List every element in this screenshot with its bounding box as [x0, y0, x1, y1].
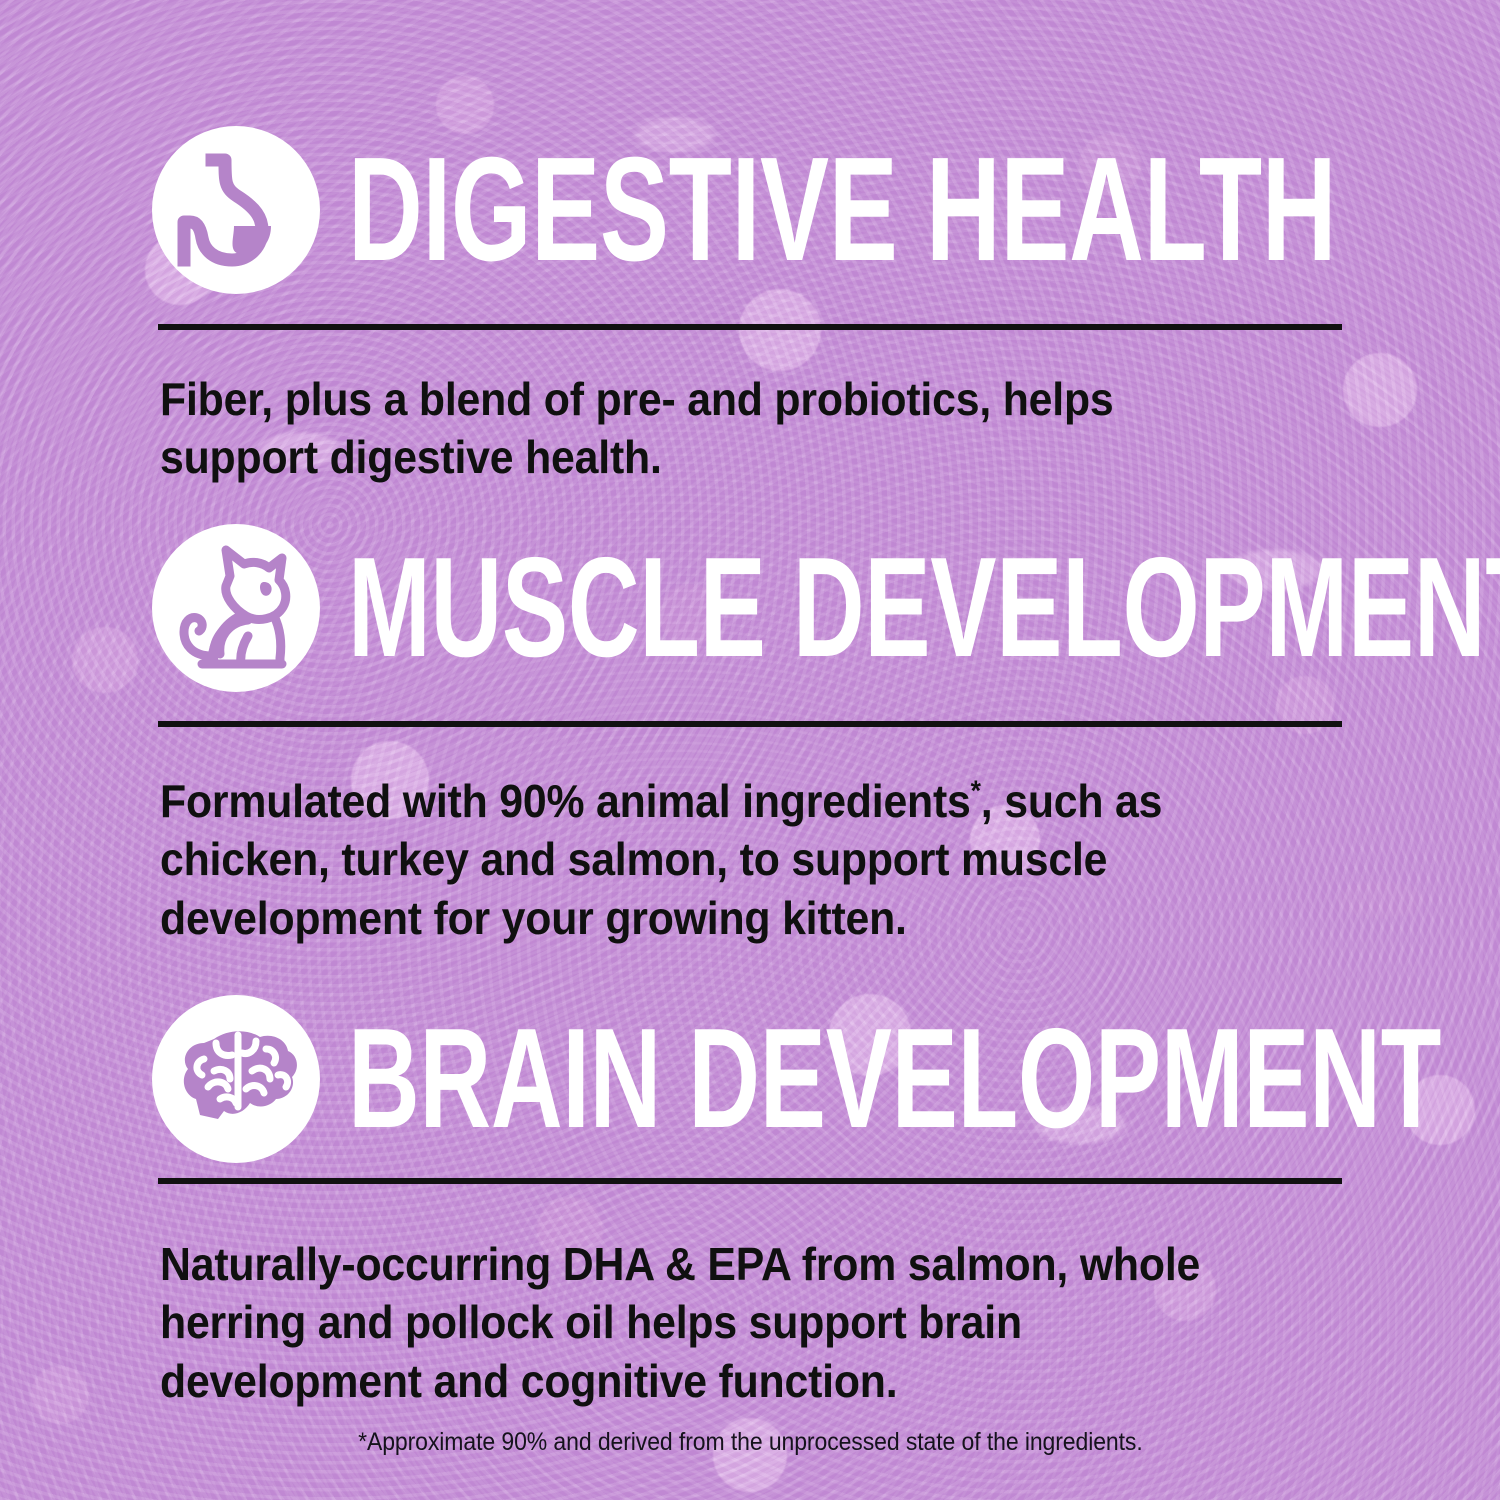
stomach-icon: [152, 126, 320, 294]
section-body-muscle-development: Formulated with 90% animal ingredients*,…: [160, 772, 1267, 947]
cat-icon: [152, 524, 320, 692]
section-body-brain-development: Naturally-occurring DHA & EPA from salmo…: [160, 1235, 1267, 1410]
divider-rule-2: [158, 721, 1342, 727]
body-text-before-marker: Formulated with 90% animal ingredients: [160, 775, 971, 827]
section-headline-brain-development: BRAIN DEVELOPMENT: [348, 1021, 1441, 1137]
section-body-digestive-health: Fiber, plus a blend of pre- and probioti…: [160, 370, 1267, 487]
content-stack: DIGESTIVE HEALTH Fiber, plus a blend of …: [0, 0, 1500, 1500]
divider-rule-1: [158, 324, 1342, 330]
section-headline-muscle-development: MUSCLE DEVELOPMENT: [348, 550, 1500, 666]
infographic-panel: DIGESTIVE HEALTH Fiber, plus a blend of …: [0, 0, 1500, 1500]
section-headline-digestive-health: DIGESTIVE HEALTH: [348, 149, 1336, 270]
brain-icon: [152, 995, 320, 1163]
footnote-text: *Approximate 90% and derived from the un…: [358, 1428, 1143, 1457]
divider-rule-3: [158, 1178, 1342, 1184]
footnote-marker: *: [971, 776, 981, 808]
section-header-brain-development: BRAIN DEVELOPMENT: [152, 995, 1500, 1163]
section-header-digestive-health: DIGESTIVE HEALTH: [152, 126, 1500, 294]
footnote: *Approximate 90% and derived from the un…: [0, 1428, 1500, 1457]
section-header-muscle-development: MUSCLE DEVELOPMENT: [152, 524, 1500, 692]
